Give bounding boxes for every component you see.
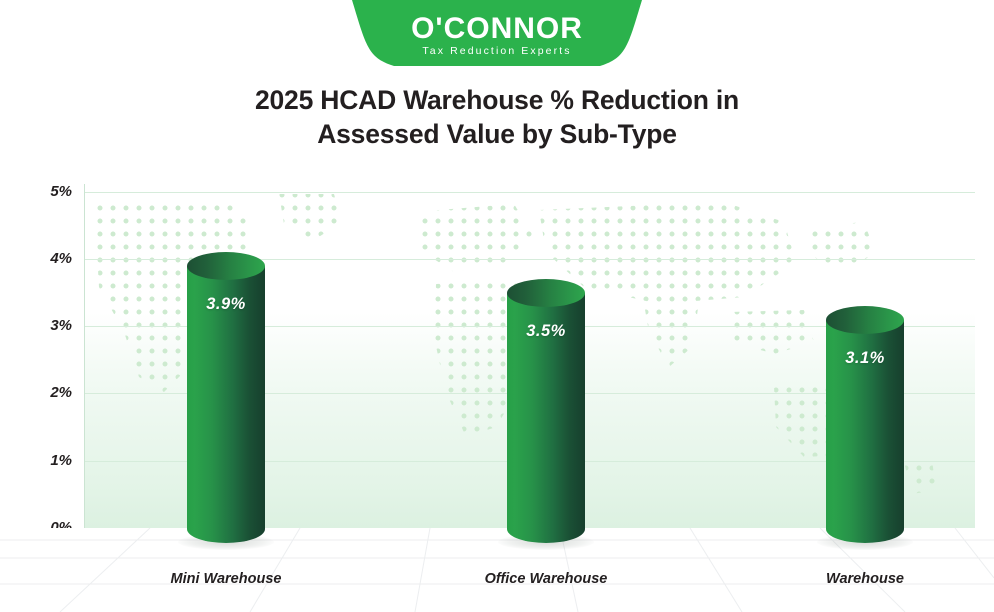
bar-value-label-1: 3.9%	[187, 295, 265, 314]
y-tick-label-3: 3%	[8, 318, 72, 334]
y-tick-label-4: 4%	[8, 251, 72, 267]
brand-logo-text: O'CONNOR	[411, 14, 583, 44]
bar-mini-warehouse[interactable]: 3.9%	[187, 266, 265, 543]
y-tick-label-2: 2%	[8, 385, 72, 401]
bar-value-label-3: 3.1%	[826, 349, 904, 368]
y-tick-label-1: 1%	[8, 453, 72, 469]
chart-title-line-1: 2025 HCAD Warehouse % Reduction in	[0, 83, 994, 117]
bar-top-ellipse-1	[187, 252, 265, 280]
bar-warehouse[interactable]: 3.1%	[826, 320, 904, 543]
header-banner: O'CONNOR Tax Reduction Experts	[0, 0, 994, 70]
bar-value-label-2: 3.5%	[507, 322, 585, 341]
y-axis-line	[84, 184, 85, 542]
chart-title: 2025 HCAD Warehouse % Reduction in Asses…	[0, 83, 994, 151]
y-axis-labels: 5% 4% 3% 2% 1% 0%	[0, 170, 72, 550]
bar-office-warehouse[interactable]: 3.5%	[507, 293, 585, 543]
logo-block: O'CONNOR Tax Reduction Experts	[397, 4, 597, 66]
gridline-5	[84, 192, 975, 193]
brand-tagline: Tax Reduction Experts	[422, 45, 571, 57]
banner-shape	[0, 0, 994, 70]
y-tick-label-5: 5%	[8, 184, 72, 200]
bar-top-ellipse-3	[826, 306, 904, 334]
x-tick-label-warehouse: Warehouse	[765, 571, 965, 587]
bar-top-ellipse-2	[507, 279, 585, 307]
chart-plot-area: 5% 4% 3% 2% 1% 0%	[0, 170, 994, 612]
chart-title-line-2: Assessed Value by Sub-Type	[0, 117, 994, 151]
x-tick-label-office-warehouse: Office Warehouse	[446, 571, 646, 587]
x-tick-label-mini-warehouse: Mini Warehouse	[126, 571, 326, 587]
